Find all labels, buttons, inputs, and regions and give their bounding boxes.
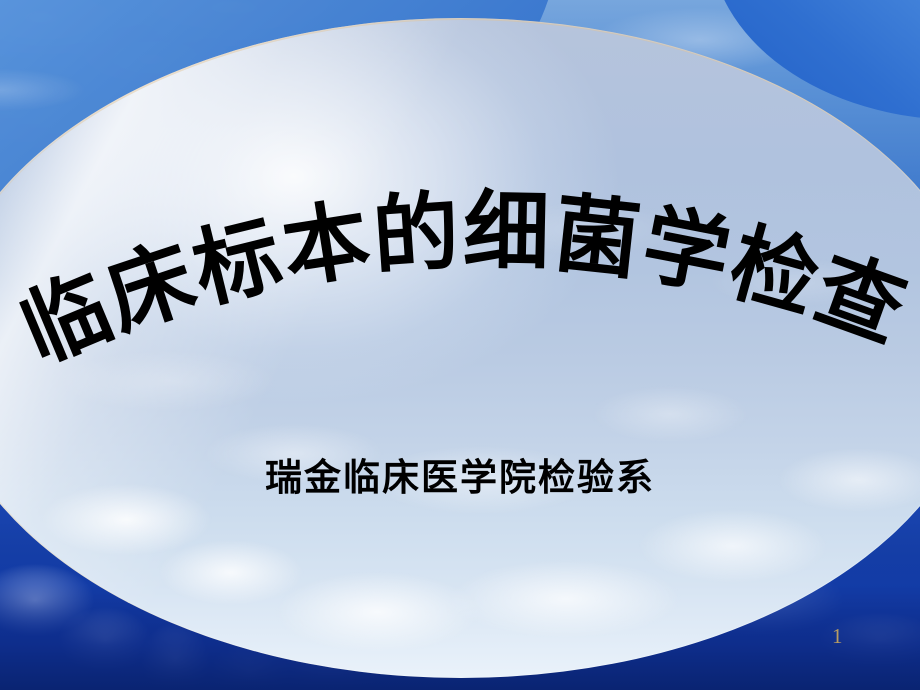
ellipse-cloud-texture [0,18,920,678]
presentation-slide: 临床标本的细菌学检查 瑞金临床医学院检验系 1 [0,0,920,690]
slide-subtitle: 瑞金临床医学院检验系 [0,457,920,501]
slide-number: 1 [832,626,843,647]
ellipse-content-plate [0,18,920,678]
